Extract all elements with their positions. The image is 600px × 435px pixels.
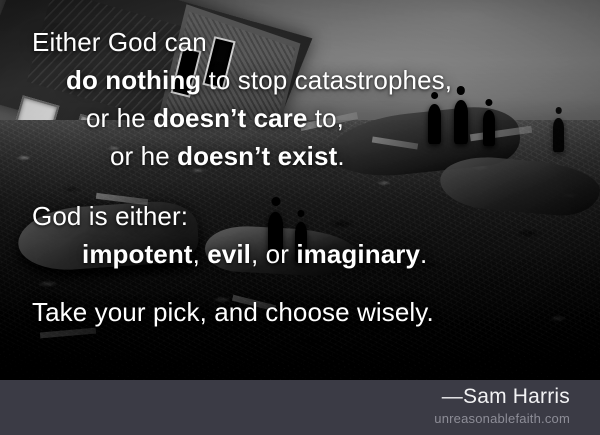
quote-line-6-sep-1: ,: [193, 239, 208, 269]
quote-line-3: or he doesn’t care to,: [30, 100, 570, 138]
source-site-label: unreasonablefaith.com: [0, 410, 570, 427]
quote-line-2: do nothing to stop catastrophes,: [30, 62, 570, 100]
quote-line-4: or he doesn’t exist.: [30, 138, 570, 176]
quote-emphasis-doesnt-care: doesn’t care: [153, 103, 307, 133]
quote-line-5-text: God is either:: [32, 201, 188, 231]
quote-emphasis-do-nothing: do nothing: [66, 65, 201, 95]
author-name: —Sam Harris: [0, 384, 570, 410]
quote-poster: Either God can do nothing to stop catast…: [0, 0, 600, 435]
quote-emphasis-imaginary: imaginary: [296, 239, 420, 269]
quote-line-7: Take your pick, and choose wisely.: [30, 294, 570, 332]
attribution-bar: —Sam Harris unreasonablefaith.com: [0, 380, 600, 435]
quote-emphasis-impotent: impotent: [82, 239, 193, 269]
quote-line-5: God is either:: [30, 198, 570, 236]
quote-line-1: Either God can: [30, 24, 570, 62]
quote-line-7-text: Take your pick, and choose wisely.: [32, 297, 434, 327]
paragraph-gap: [30, 176, 570, 198]
quote-line-2-tail: to stop catastrophes,: [201, 65, 452, 95]
quote-line-3-tail: to,: [307, 103, 344, 133]
quote-text-block: Either God can do nothing to stop catast…: [0, 0, 600, 332]
quote-line-4-head: or he: [110, 141, 177, 171]
quote-emphasis-evil: evil: [207, 239, 251, 269]
quote-line-6-sep-2: , or: [251, 239, 296, 269]
quote-emphasis-doesnt-exist: doesn’t exist: [177, 141, 337, 171]
quote-line-3-head: or he: [86, 103, 153, 133]
quote-line-6-period: .: [420, 239, 427, 269]
quote-line-6: impotent, evil, or imaginary.: [30, 236, 570, 274]
quote-line-1-text: Either God can: [32, 27, 207, 57]
paragraph-gap: [30, 274, 570, 294]
quote-line-4-tail: .: [337, 141, 344, 171]
